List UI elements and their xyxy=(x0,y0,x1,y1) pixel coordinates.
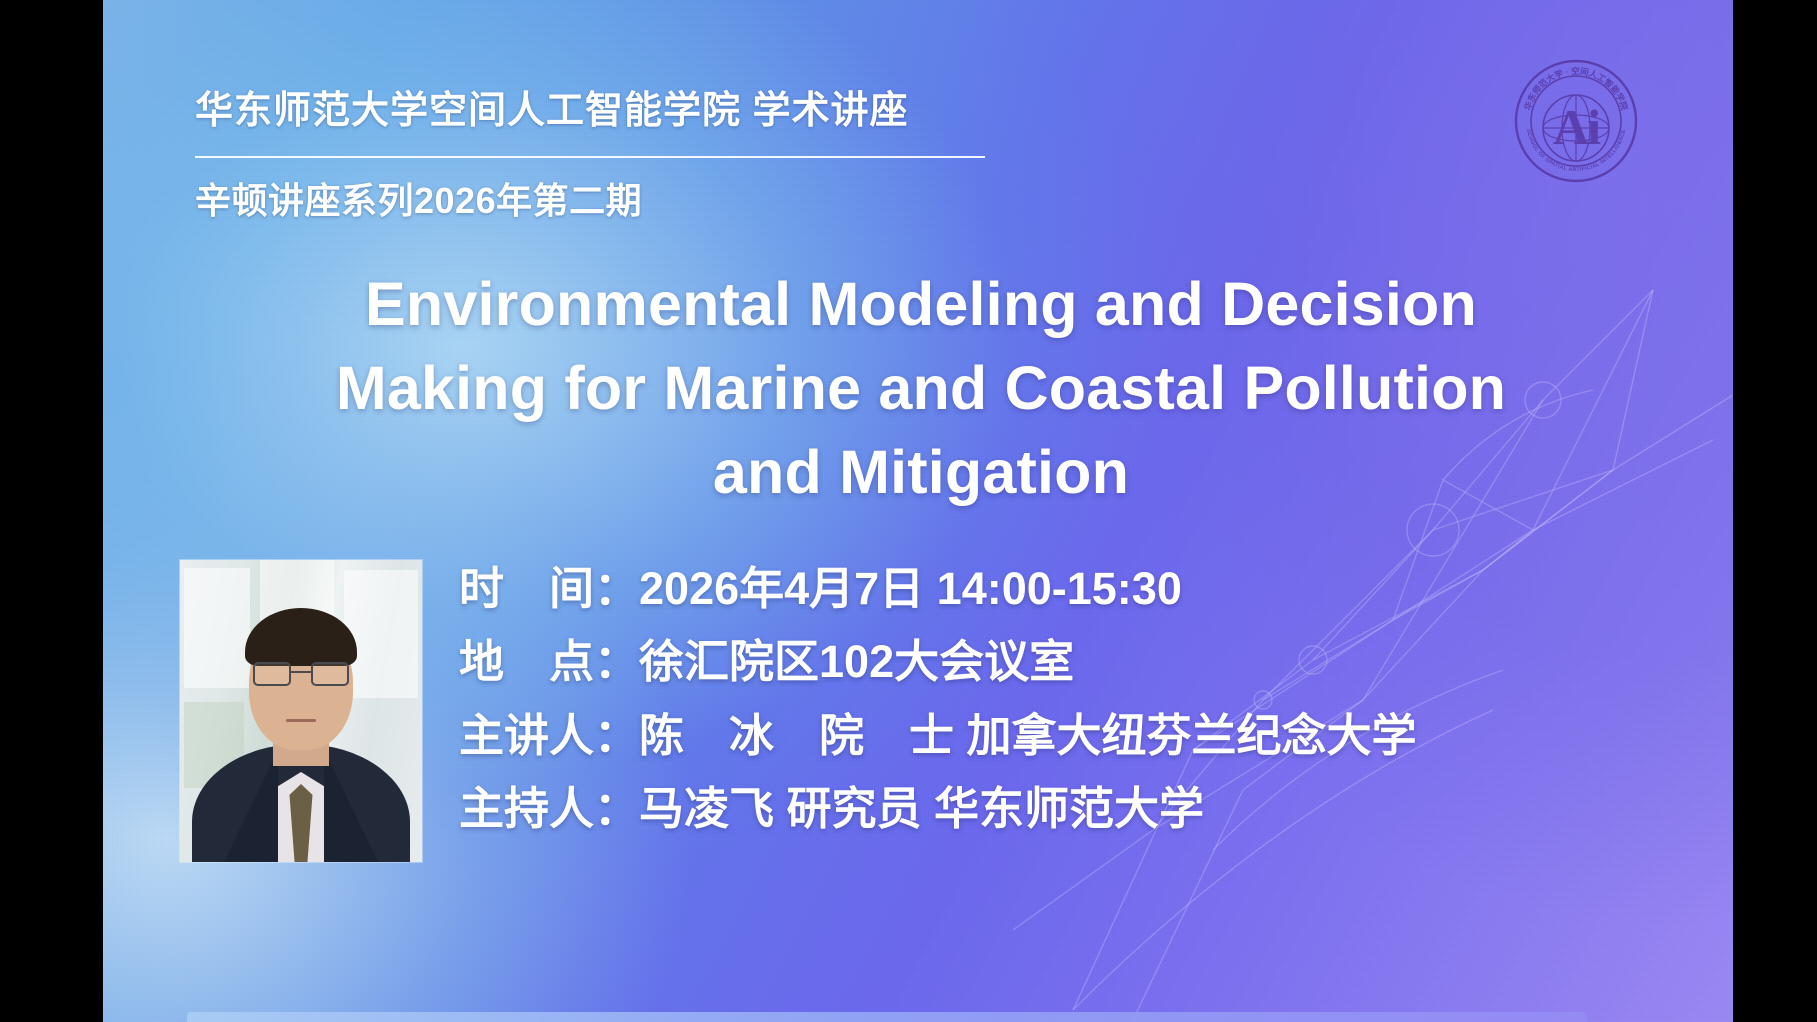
school-emblem-logo: Ai 华东师范大学 · 空间人工智能学院 SCHOOL OF SPATIAL A… xyxy=(1513,58,1639,184)
portrait-brow-left xyxy=(256,656,288,660)
presentation-slide: 华东师范大学空间人工智能学院 学术讲座 辛顿讲座系列2026年第二期 Ai 华东… xyxy=(103,0,1733,1022)
letterbox-bar-right xyxy=(1733,0,1817,1022)
detail-row-time: 时 间：2026年4月7日 14:00-15:30 xyxy=(459,556,1689,621)
portrait-window-1 xyxy=(184,568,250,688)
bottom-accent-bar xyxy=(187,1012,1587,1022)
detail-value-host: 马凌飞 研究员 华东师范大学 xyxy=(639,783,1204,834)
detail-label-time: 时 间： xyxy=(459,563,639,614)
header: 华东师范大学空间人工智能学院 学术讲座 辛顿讲座系列2026年第二期 xyxy=(195,90,1075,224)
detail-label-location: 地 点： xyxy=(459,636,639,687)
portrait-lens-left xyxy=(253,662,291,686)
portrait-brow-right xyxy=(314,656,346,660)
talk-title-line-1: Environmental Modeling and Decision xyxy=(211,262,1631,346)
slide-stage: 华东师范大学空间人工智能学院 学术讲座 辛顿讲座系列2026年第二期 Ai 华东… xyxy=(0,0,1817,1022)
letterbox-bar-left xyxy=(0,0,103,1022)
detail-value-time: 2026年4月7日 14:00-15:30 xyxy=(639,563,1182,614)
detail-row-location: 地 点：徐汇院区102大会议室 xyxy=(459,629,1689,694)
portrait-glasses-bridge xyxy=(291,671,311,673)
detail-label-speaker: 主讲人： xyxy=(459,710,639,761)
portrait-mouth xyxy=(286,719,316,722)
detail-value-speaker: 陈 冰 院 士 加拿大纽芬兰纪念大学 xyxy=(639,710,1417,761)
lecture-series-subtitle: 辛顿讲座系列2026年第二期 xyxy=(195,172,1075,224)
header-divider xyxy=(195,156,985,158)
detail-row-host: 主持人：马凌飞 研究员 华东师范大学 xyxy=(459,776,1689,841)
portrait-glasses xyxy=(253,662,349,686)
svg-text:Ai: Ai xyxy=(1553,99,1601,155)
talk-title-line-3: and Mitigation xyxy=(211,430,1631,514)
talk-title-line-2: Making for Marine and Coastal Pollution xyxy=(211,346,1631,430)
talk-title: Environmental Modeling and Decision Maki… xyxy=(211,262,1631,515)
detail-row-speaker: 主讲人：陈 冰 院 士 加拿大纽芬兰纪念大学 xyxy=(459,703,1689,768)
portrait-lens-right xyxy=(311,662,349,686)
portrait-window-3 xyxy=(344,570,418,698)
organization-title: 华东师范大学空间人工智能学院 学术讲座 xyxy=(195,90,1075,134)
speaker-portrait xyxy=(180,560,422,862)
detail-value-location: 徐汇院区102大会议室 xyxy=(639,636,1074,687)
detail-label-host: 主持人： xyxy=(459,783,639,834)
event-details: 时 间：2026年4月7日 14:00-15:30 地 点：徐汇院区102大会议… xyxy=(459,556,1689,849)
